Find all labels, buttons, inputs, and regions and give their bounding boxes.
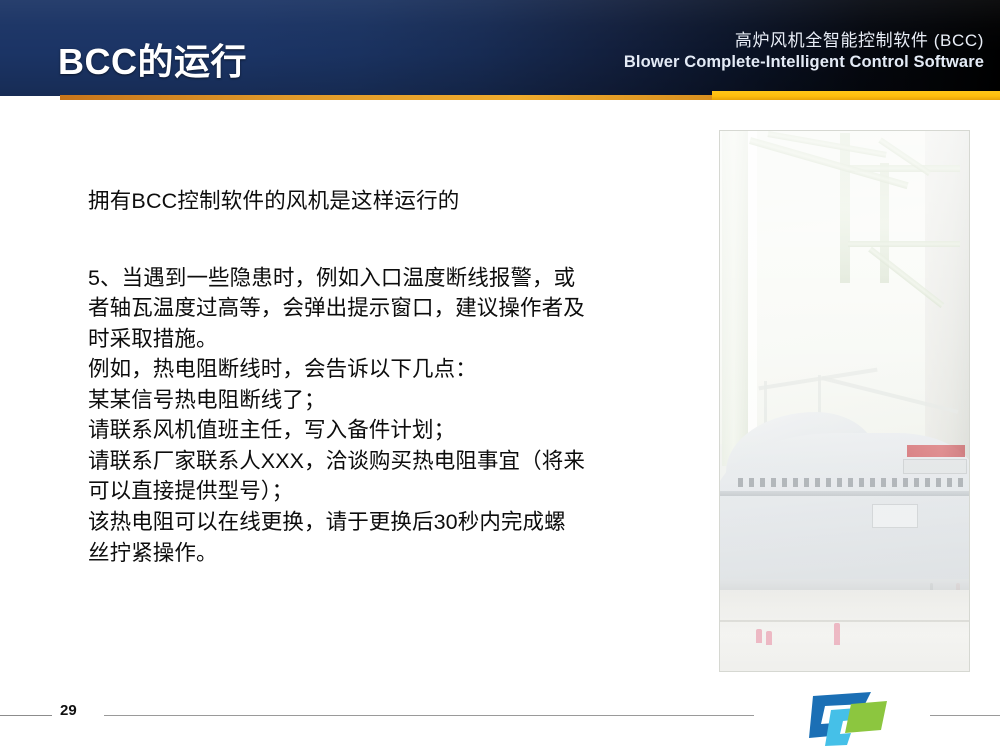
body-line: 某某信号热电阻断线了； [88, 385, 688, 416]
brand-title-english: Blower Complete-Intelligent Control Soft… [624, 53, 984, 72]
page-number: 29 [60, 703, 77, 718]
company-logo-icon [795, 690, 891, 748]
body-line: 5、当遇到一些隐患时，例如入口温度断线报警，或 [88, 263, 688, 294]
body-line: 丝拧紧操作。 [88, 538, 688, 569]
footer-rule-left [0, 715, 52, 716]
lead-paragraph: 拥有BCC控制软件的风机是这样运行的 [88, 188, 688, 215]
brand-block: 高炉风机全智能控制软件 (BCC) Blower Complete-Intell… [624, 31, 984, 73]
body-line: 时采取措施。 [88, 324, 688, 355]
footer-rule-middle [104, 715, 754, 716]
body-line: 请联系厂家联系人XXX，洽谈购买热电阻事宜（将来 [88, 446, 688, 477]
footer-rule-right [930, 715, 1000, 716]
photo-overexposure-haze [720, 131, 969, 671]
body-line: 该热电阻可以在线更换，请于更换后30秒内完成螺 [88, 507, 688, 538]
brand-title-chinese: 高炉风机全智能控制软件 (BCC) [624, 31, 984, 51]
blower-machine-photo [719, 130, 970, 672]
detail-paragraph: 5、当遇到一些隐患时，例如入口温度断线报警，或 者轴瓦温度过高等，会弹出提示窗口… [88, 263, 688, 568]
header-gold-rule-left [60, 95, 712, 100]
company-logo [795, 690, 891, 748]
page-title: BCC的运行 [58, 44, 247, 80]
slide-body: 拥有BCC控制软件的风机是这样运行的 5、当遇到一些隐患时，例如入口温度断线报警… [88, 188, 688, 568]
body-line: 者轴瓦温度过高等，会弹出提示窗口，建议操作者及 [88, 293, 688, 324]
body-line: 请联系风机值班主任，写入备件计划； [88, 415, 688, 446]
body-line: 例如，热电阻断线时，会告诉以下几点： [88, 354, 688, 385]
header-gold-rule-right [712, 91, 1000, 100]
body-line: 可以直接提供型号）； [88, 476, 688, 507]
photo-canvas [720, 131, 969, 671]
